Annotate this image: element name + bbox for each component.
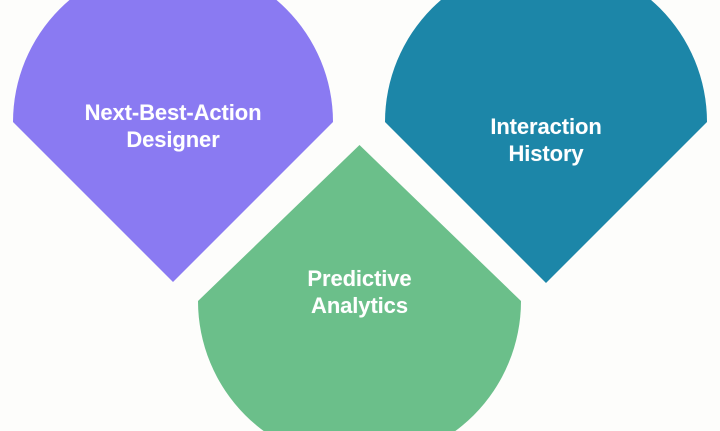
- diagram-node-predictive-analytics[interactable]: Predictive Analytics: [198, 145, 521, 421]
- arched-diamond-shape-green: [198, 145, 521, 421]
- diagram-canvas: Next-Best-Action Designer Interaction Hi…: [0, 0, 720, 431]
